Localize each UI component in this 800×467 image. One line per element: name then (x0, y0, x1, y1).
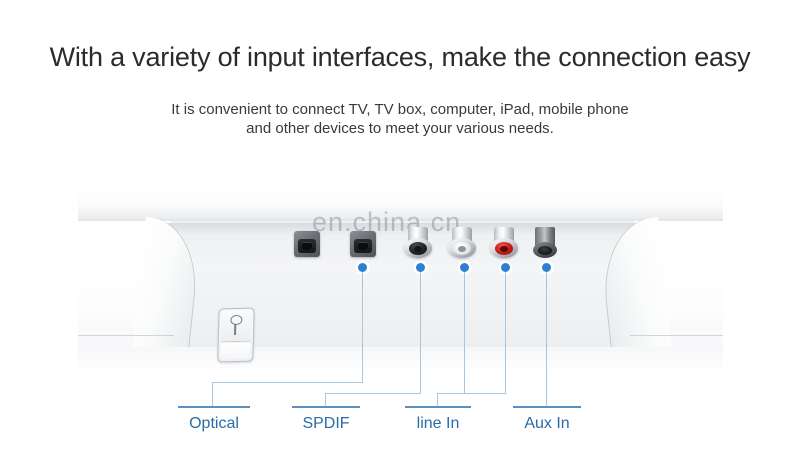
callout-dot-optical (358, 263, 367, 272)
callout-rule-spdif (292, 406, 360, 408)
spdif-port-icon (350, 231, 376, 257)
rca-jack-red-icon (490, 227, 518, 259)
callout-dot-spdif (416, 263, 425, 272)
rocker-lower-half (220, 343, 250, 360)
aux-jack-icon (533, 227, 557, 259)
leader-optical-horizontal (212, 382, 363, 383)
leader-line-in-vertical-lower (437, 393, 438, 407)
callout-dot-aux-in (542, 263, 551, 272)
spdif-port-mouth (354, 239, 372, 253)
callout-rule-line-in (405, 406, 471, 408)
rca-black-hole (409, 242, 427, 255)
leader-line-in-left-vertical (464, 272, 465, 393)
callout-dot-line-in-left (460, 263, 469, 272)
rca-jack-white-icon (448, 227, 476, 259)
leader-optical-vertical-lower (212, 382, 213, 407)
optical-port-icon (294, 231, 320, 257)
optical-port-mouth (298, 239, 316, 253)
rca-red-hole (495, 242, 513, 255)
callout-label-line-in-text: line In (405, 415, 471, 433)
callout-label-aux-in-text: Aux In (513, 415, 581, 433)
callout-dot-line-in-right (501, 263, 510, 272)
subtitle-line-2: and other devices to meet your various n… (0, 119, 800, 138)
leader-spdif-vertical-upper (420, 272, 421, 393)
leader-optical-vertical-upper (362, 272, 363, 382)
aux-jack-rim (533, 242, 557, 258)
callout-label-line-in[interactable]: line In (405, 406, 471, 433)
power-rocker-switch[interactable] (217, 308, 254, 363)
soundbar-base-plinth (78, 347, 723, 369)
leader-spdif-vertical-lower (325, 393, 326, 407)
leader-aux-in-vertical (546, 272, 547, 407)
callout-label-optical[interactable]: Optical (178, 406, 250, 433)
leader-line-in-right-vertical (505, 272, 506, 393)
power-on-bar-icon (234, 324, 236, 335)
cavity-top-shadow (166, 223, 636, 235)
soundbar-top-bevel (78, 183, 723, 221)
page-title: With a variety of input interfaces, make… (0, 42, 800, 73)
left-face-seam (78, 335, 174, 336)
right-face-seam (630, 335, 723, 336)
rca-white-hole (453, 242, 471, 255)
callout-rule-optical (178, 406, 250, 408)
leader-line-in-horizontal (437, 393, 506, 394)
callout-label-spdif[interactable]: SPDIF (292, 406, 360, 433)
callout-label-aux-in[interactable]: Aux In (513, 406, 581, 433)
callout-rule-aux-in (513, 406, 581, 408)
subtitle-line-1: It is convenient to connect TV, TV box, … (171, 101, 629, 118)
rca-jack-black-icon (404, 227, 432, 259)
product-photo: en.china.cn (78, 183, 723, 369)
callout-label-spdif-text: SPDIF (292, 415, 360, 433)
leader-spdif-horizontal (325, 393, 421, 394)
callout-label-optical-text: Optical (178, 415, 250, 433)
page-subtitle: It is convenient to connect TV, TV box, … (0, 100, 800, 138)
